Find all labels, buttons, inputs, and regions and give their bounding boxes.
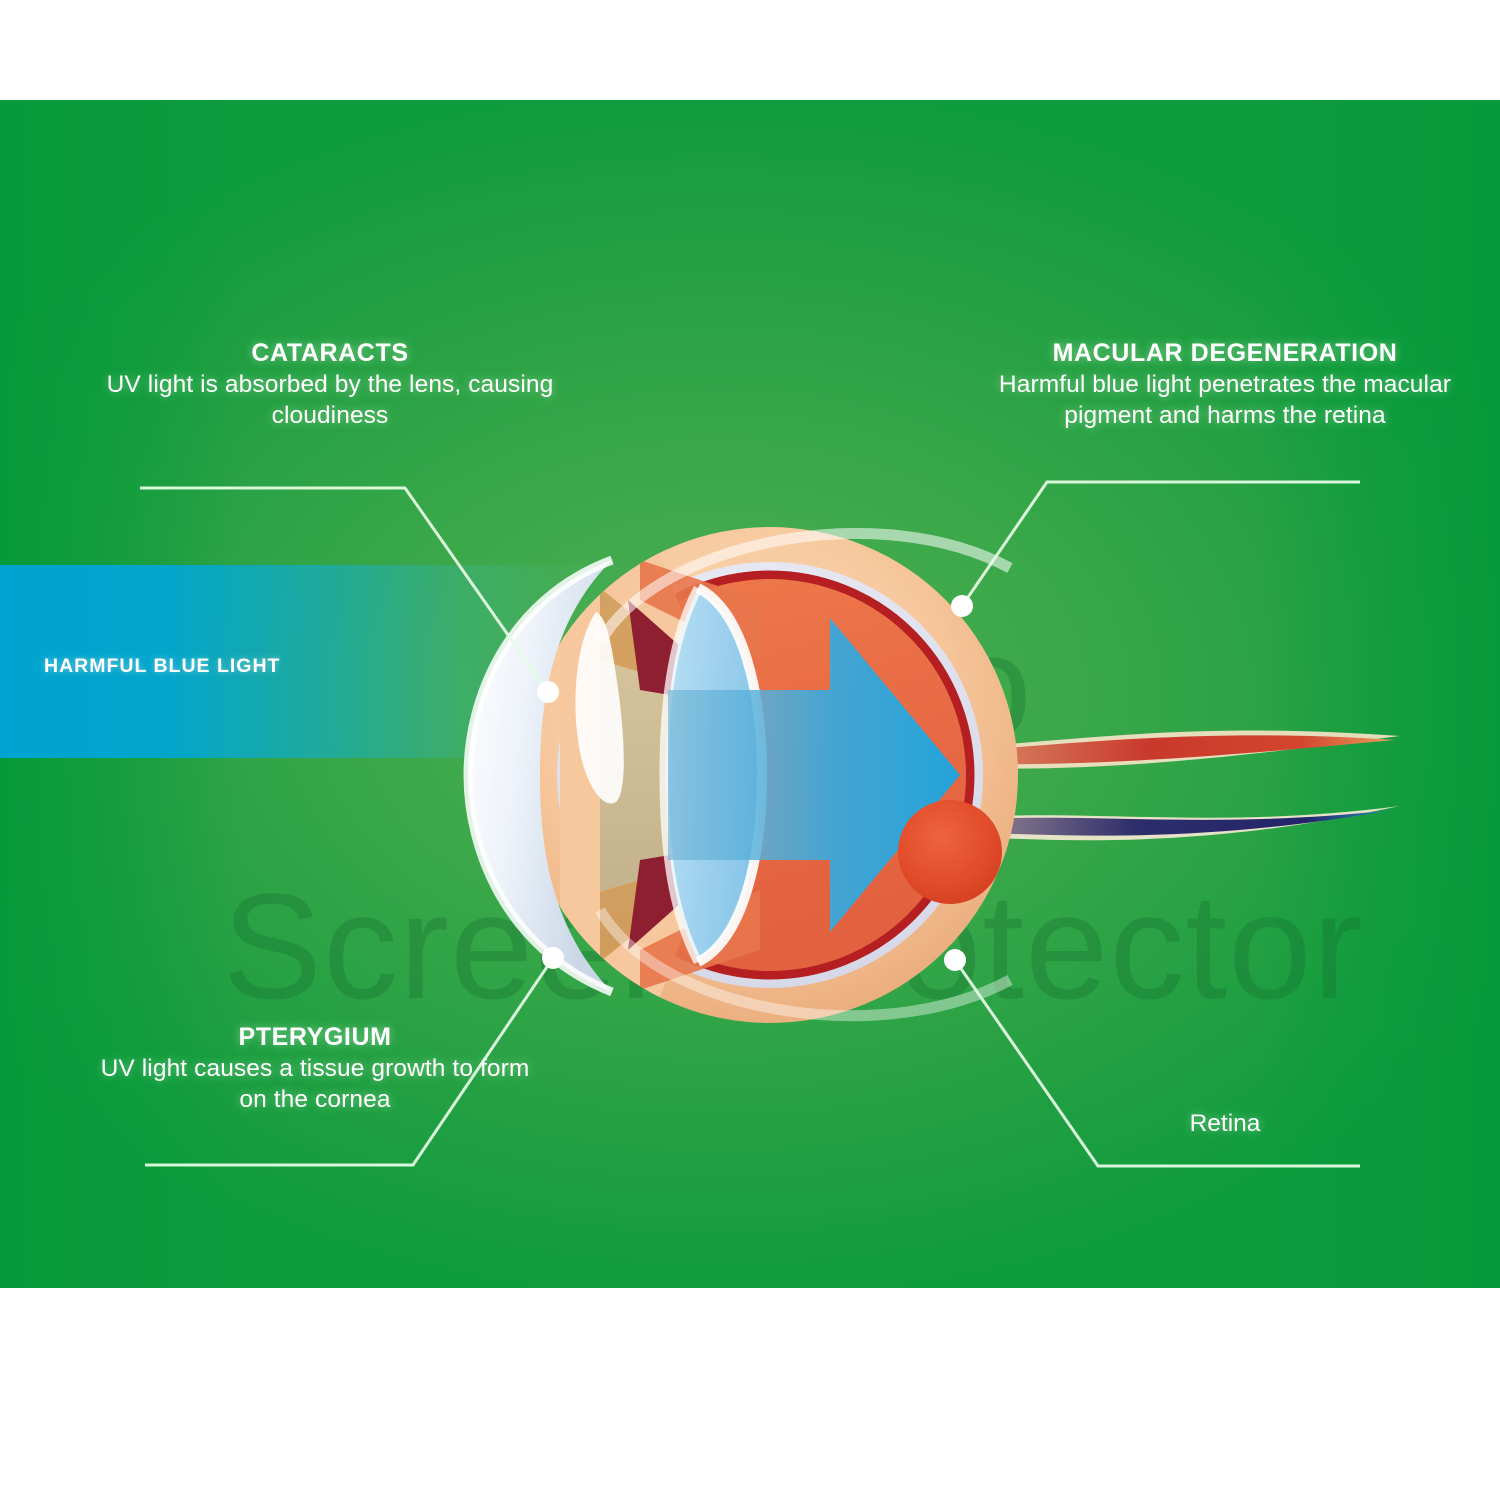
callout-pterygium: PTERYGIUM UV light causes a tissue growt…: [95, 1022, 535, 1116]
eye-cross-section-diagram: [0, 0, 1500, 1400]
macula: [898, 800, 1002, 904]
callout-cataracts-title: CATARACTS: [100, 338, 560, 369]
callout-cataracts: CATARACTS UV light is absorbed by the le…: [100, 338, 560, 432]
blue-light-label: HARMFUL BLUE LIGHT: [44, 655, 280, 678]
callout-macular-body: Harmful blue light penetrates the macula…: [995, 369, 1455, 433]
callout-retina: Retina: [1095, 1110, 1355, 1138]
callout-macular-degeneration: MACULAR DEGENERATION Harmful blue light …: [995, 338, 1455, 432]
callout-pterygium-body: UV light causes a tissue growth to form …: [95, 1053, 535, 1117]
optic-nerve-group: [960, 731, 1400, 841]
callout-pterygium-title: PTERYGIUM: [95, 1022, 535, 1053]
infographic-canvas: EZ Pro Screen Protector HARMFUL BLUE LIG…: [0, 0, 1500, 1500]
callout-cataracts-body: UV light is absorbed by the lens, causin…: [100, 369, 560, 433]
callout-macular-title: MACULAR DEGENERATION: [995, 338, 1455, 369]
